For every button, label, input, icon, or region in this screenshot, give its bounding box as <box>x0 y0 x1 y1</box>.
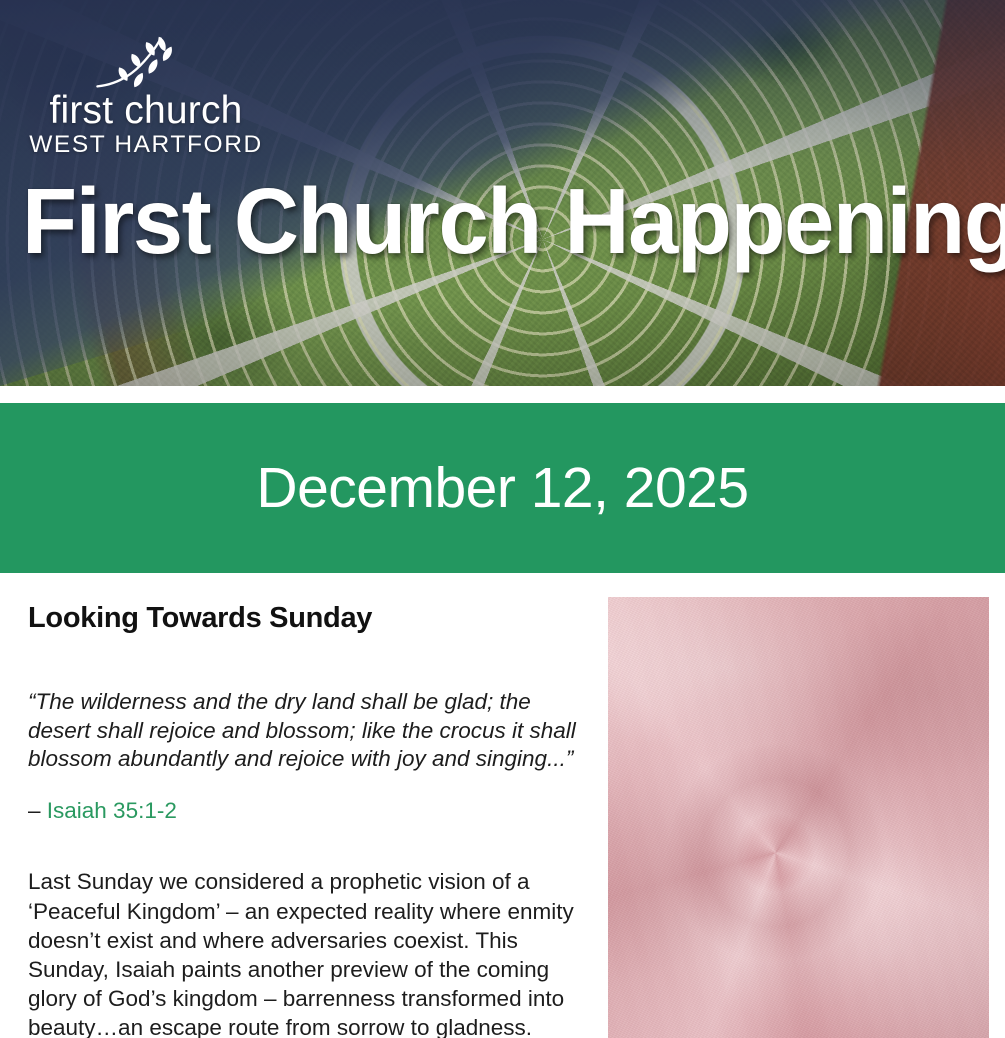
date-band: December 12, 2025 <box>0 403 1005 573</box>
scripture-citation: – Isaiah 35:1-2 <box>28 797 588 826</box>
article-paragraph: Last Sunday we considered a prophetic vi… <box>28 867 588 1038</box>
scripture-block: “The wilderness and the dry land shall b… <box>28 688 588 826</box>
newsletter-page: first church WEST HARTFORD First Church … <box>0 0 1005 1038</box>
scripture-reference-link[interactable]: Isaiah 35:1-2 <box>47 798 177 823</box>
hero-banner: first church WEST HARTFORD First Church … <box>0 0 1005 386</box>
article-side-image <box>608 597 989 1038</box>
fabric-texture <box>608 597 989 1038</box>
branch-leaves-icon <box>92 34 200 90</box>
scripture-quote: “The wilderness and the dry land shall b… <box>28 688 588 774</box>
logo-wordmark: first church <box>16 92 276 129</box>
logo-subtitle: WEST HARTFORD <box>16 131 276 159</box>
hero-title: First Church Happenings <box>22 175 1005 268</box>
issue-date: December 12, 2025 <box>256 460 748 517</box>
brand-logo[interactable]: first church WEST HARTFORD <box>16 34 276 159</box>
page-title: Looking Towards Sunday <box>28 601 588 636</box>
article-column: Looking Towards Sunday “The wilderness a… <box>28 601 588 1038</box>
hero-date-divider <box>0 386 1005 403</box>
citation-dash: – <box>28 798 47 823</box>
